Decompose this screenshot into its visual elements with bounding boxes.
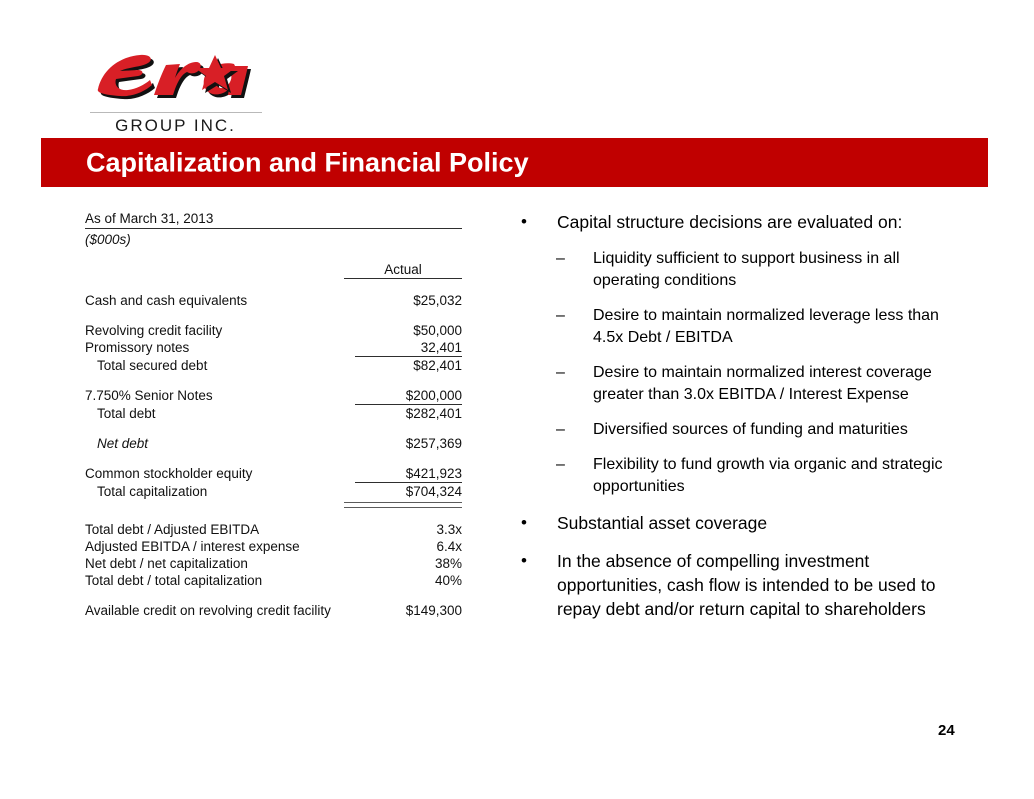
spacer (85, 422, 462, 435)
row-value: 6.4x (344, 538, 462, 555)
bullet-item: • In the absence of compelling investmen… (513, 549, 945, 621)
dash-marker-icon: – (556, 305, 565, 327)
spacer (85, 279, 462, 292)
dash-marker-icon: – (556, 248, 565, 270)
table-row: Total debt / Adjusted EBITDA 3.3x (85, 521, 462, 538)
row-value: $149,300 (344, 602, 462, 619)
bullet-text: Desire to maintain normalized interest c… (593, 364, 932, 403)
table-row: Total secured debt $82,401 (85, 357, 462, 374)
dash-marker-icon: – (556, 419, 565, 441)
page-title: Capitalization and Financial Policy (86, 147, 529, 178)
table-row: Total debt / total capitalization 40% (85, 572, 462, 589)
table-row: Common stockholder equity $421,923 (85, 465, 462, 482)
bullet-item: • Capital structure decisions are evalua… (513, 210, 945, 234)
bullet-text: Flexibility to fund growth via organic a… (593, 456, 943, 495)
bullet-text: In the absence of compelling investment … (557, 551, 935, 619)
bullet-marker-icon: • (521, 549, 527, 573)
row-value: $25,032 (344, 292, 462, 309)
bullet-text: Desire to maintain normalized leverage l… (593, 307, 939, 346)
dash-marker-icon: – (556, 362, 565, 384)
dash-marker-icon: – (556, 454, 565, 476)
table-units: ($000s) (85, 231, 462, 248)
total-double-rule (344, 502, 462, 508)
bullet-text: Substantial asset coverage (557, 513, 767, 533)
row-label: Total capitalization (85, 483, 344, 500)
row-label: Cash and cash equivalents (85, 292, 344, 309)
financial-policy-bullets: • Capital structure decisions are evalua… (513, 210, 945, 635)
bullet-item: – Diversified sources of funding and mat… (513, 419, 945, 441)
table-row: Total debt $282,401 (85, 405, 462, 422)
spacer (85, 452, 462, 465)
table-row: 7.750% Senior Notes $200,000 (85, 387, 462, 404)
row-label: Total debt / Adjusted EBITDA (85, 521, 344, 538)
table-heading: As of March 31, 2013 (85, 210, 462, 227)
bullet-text: Diversified sources of funding and matur… (593, 421, 908, 438)
table-column-header-row: Actual (85, 261, 462, 278)
table-row: Net debt $257,369 (85, 435, 462, 452)
bullet-item: – Desire to maintain normalized interest… (513, 362, 945, 406)
table-units-row: ($000s) (85, 231, 462, 248)
table-row: Cash and cash equivalents $25,032 (85, 292, 462, 309)
row-value: 3.3x (344, 521, 462, 538)
table-row: Available credit on revolving credit fac… (85, 602, 462, 619)
column-header-actual: Actual (344, 261, 462, 278)
logo-subtitle: GROUP INC. (88, 116, 263, 136)
row-value: $200,000 (344, 387, 462, 404)
bullet-text: Liquidity sufficient to support business… (593, 250, 900, 289)
row-label: Revolving credit facility (85, 322, 344, 339)
row-value: 32,401 (344, 339, 462, 356)
row-label: Common stockholder equity (85, 465, 344, 482)
row-value: 38% (344, 555, 462, 572)
era-wordmark-icon (88, 48, 263, 110)
row-label: Net debt / net capitalization (85, 555, 344, 572)
row-label: 7.750% Senior Notes (85, 387, 344, 404)
spacer (85, 248, 462, 261)
row-label: Available credit on revolving credit fac… (85, 602, 344, 619)
table-row: Net debt / net capitalization 38% (85, 555, 462, 572)
spacer (85, 589, 462, 602)
bullet-item: • Substantial asset coverage (513, 511, 945, 535)
row-label: Total secured debt (85, 357, 344, 374)
bullet-marker-icon: • (521, 511, 527, 535)
table-row: Adjusted EBITDA / interest expense 6.4x (85, 538, 462, 555)
row-value: $704,324 (344, 483, 462, 500)
page-number: 24 (938, 722, 955, 739)
row-value: 40% (344, 572, 462, 589)
row-label: Total debt (85, 405, 344, 422)
row-value: $50,000 (344, 322, 462, 339)
bullet-text: Capital structure decisions are evaluate… (557, 212, 902, 232)
spacer (85, 508, 462, 521)
table-row: Total capitalization $704,324 (85, 483, 462, 500)
slide-title-banner: Capitalization and Financial Policy (41, 138, 988, 187)
row-label: Adjusted EBITDA / interest expense (85, 538, 344, 555)
row-value: $257,369 (344, 435, 462, 452)
table-row: Promissory notes 32,401 (85, 339, 462, 356)
spacer (85, 309, 462, 322)
row-label: Net debt (85, 435, 344, 452)
bullet-marker-icon: • (521, 210, 527, 234)
heading-underline (85, 228, 462, 229)
row-label: Promissory notes (85, 339, 344, 356)
bullet-item: – Liquidity sufficient to support busine… (513, 248, 945, 292)
column-header-underline (344, 278, 462, 279)
logo-divider (90, 112, 262, 113)
capitalization-table: As of March 31, 2013 ($000s) Actual Cash… (85, 210, 462, 619)
table-row: Revolving credit facility $50,000 (85, 322, 462, 339)
row-value: $82,401 (344, 357, 462, 374)
row-label: Total debt / total capitalization (85, 572, 344, 589)
bullet-item: – Desire to maintain normalized leverage… (513, 305, 945, 349)
row-value: $421,923 (344, 465, 462, 482)
row-value: $282,401 (344, 405, 462, 422)
bullet-item: – Flexibility to fund growth via organic… (513, 454, 945, 498)
era-group-logo: GROUP INC. (88, 48, 263, 130)
spacer (85, 374, 462, 387)
table-heading-row: As of March 31, 2013 (85, 210, 462, 227)
